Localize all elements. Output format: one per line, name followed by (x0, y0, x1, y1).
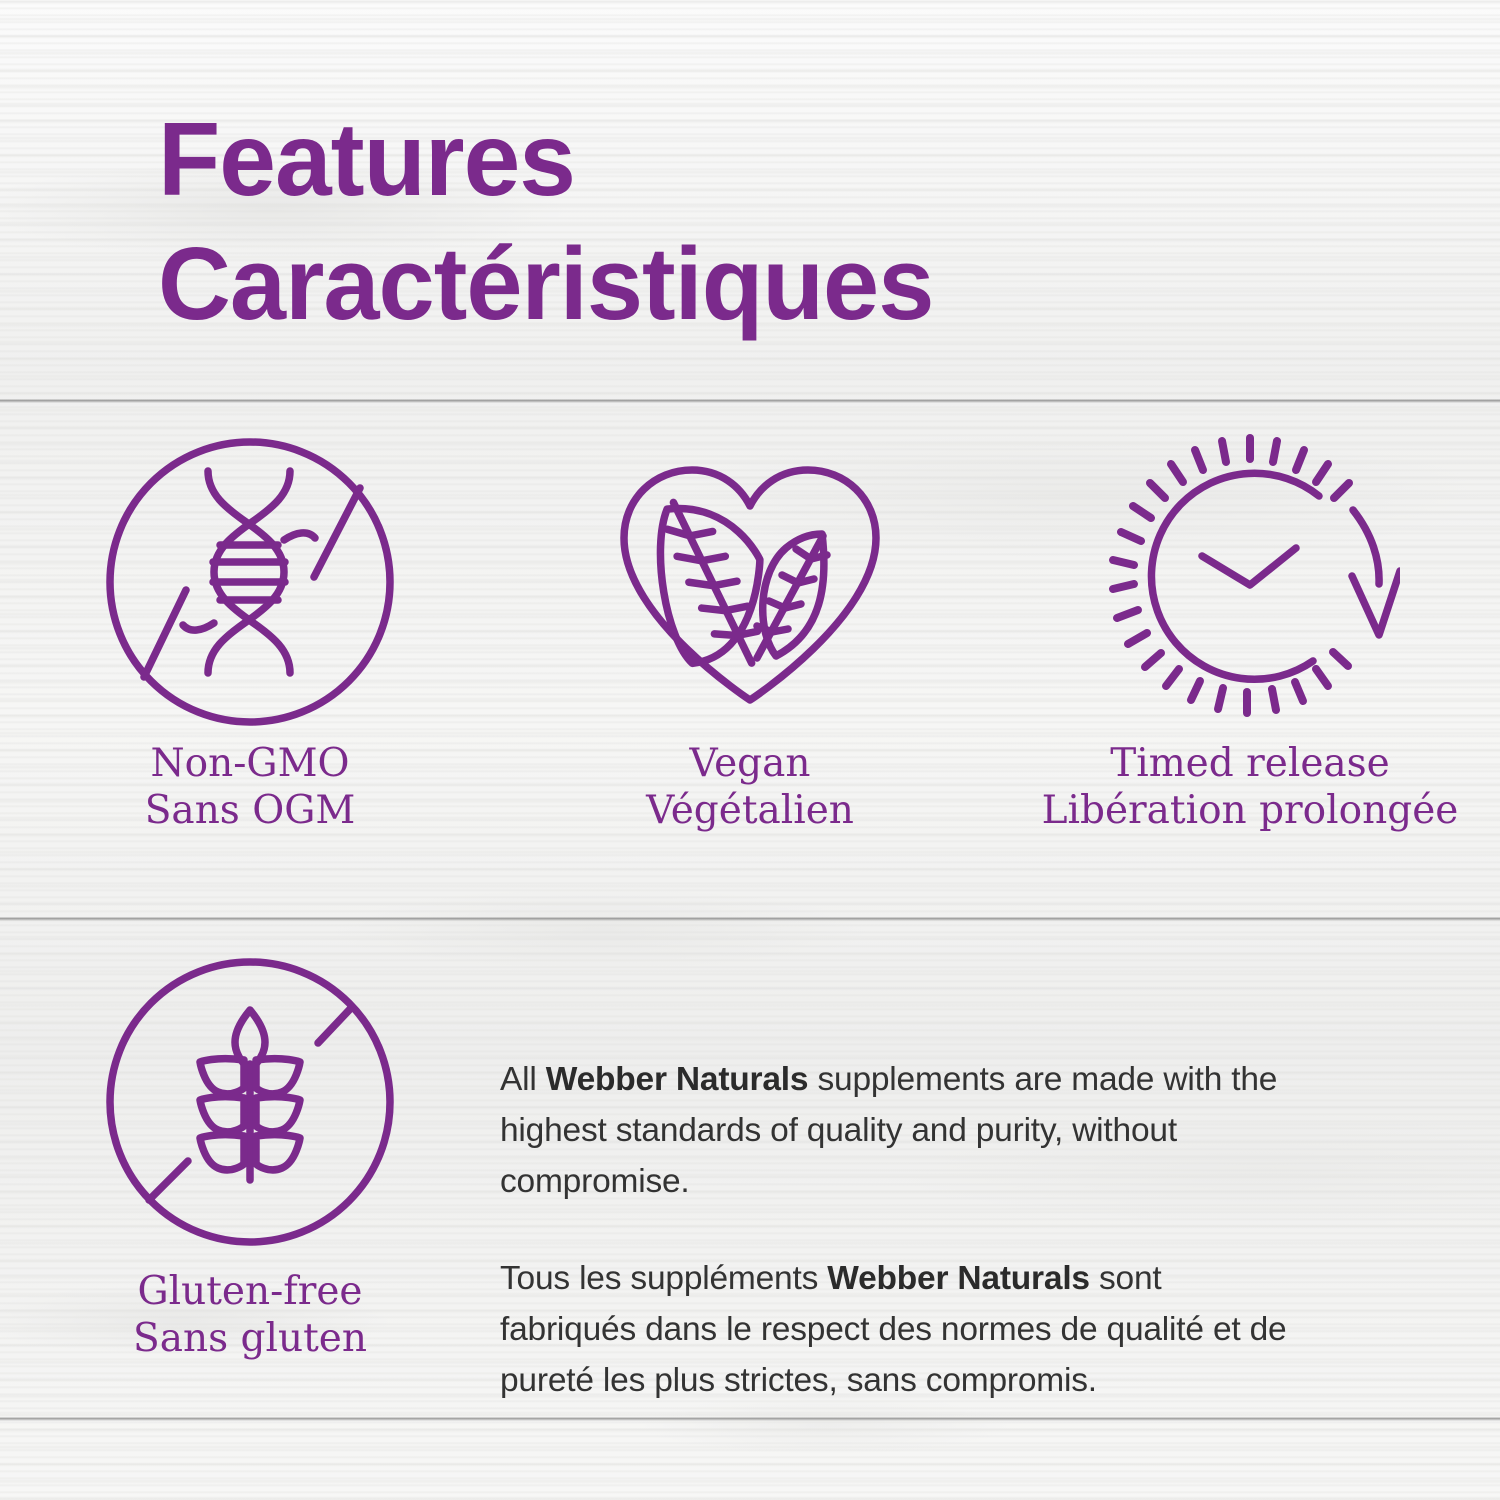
feature-label-en: Non-GMO (151, 741, 350, 786)
page-title-en: Features (158, 98, 933, 222)
feature-label-fr: Libération prolongée (1042, 787, 1459, 834)
page-title-fr: Caractéristiques (158, 222, 933, 346)
feature-panel: Features Caractéristiques (0, 0, 1500, 1500)
brand-copy-fr: Tous les suppléments Webber Naturals son… (500, 1253, 1300, 1406)
feature-row-bottom: Gluten-free Sans gluten All Webber Natur… (0, 952, 1500, 1439)
feature-gluten-free: Gluten-free Sans gluten (0, 952, 500, 1439)
brand-copy-block: All Webber Naturals supplements are made… (500, 952, 1360, 1439)
plank-seam-line (0, 917, 1500, 921)
copy-en-before: All (500, 1061, 546, 1098)
brand-copy-en: All Webber Naturals supplements are made… (500, 1054, 1300, 1207)
feature-label-vegan: Vegan Végétalien (646, 740, 854, 834)
feature-label-fr: Végétalien (646, 787, 854, 834)
feature-label-en: Gluten-free (137, 1269, 362, 1314)
timed-release-clock-arrow-icon (1100, 432, 1400, 732)
page-title: Features Caractéristiques (158, 98, 949, 346)
feature-label-gluten-free: Gluten-free Sans gluten (133, 1268, 367, 1362)
feature-label-timed-release: Timed release Libération prolongée (1042, 740, 1459, 834)
feature-label-en: Timed release (1110, 741, 1390, 786)
feature-label-en: Vegan (690, 741, 811, 786)
feature-label-fr: Sans OGM (145, 787, 356, 834)
brand-name: Webber Naturals (546, 1061, 809, 1098)
feature-label-non-gmo: Non-GMO Sans OGM (145, 740, 356, 834)
copy-fr-before: Tous les suppléments (500, 1260, 827, 1297)
no-gmo-dna-icon (100, 432, 400, 732)
feature-row-top: Non-GMO Sans OGM (0, 432, 1500, 834)
vegan-heart-leaves-icon (600, 432, 900, 732)
feature-timed-release: Timed release Libération prolongée (1000, 432, 1500, 834)
brand-name: Webber Naturals (827, 1260, 1090, 1297)
gluten-free-wheat-icon (100, 952, 400, 1252)
feature-vegan: Vegan Végétalien (500, 432, 1000, 834)
plank-seam-line (0, 399, 1500, 403)
feature-label-fr: Sans gluten (133, 1315, 367, 1362)
feature-non-gmo: Non-GMO Sans OGM (0, 432, 500, 834)
